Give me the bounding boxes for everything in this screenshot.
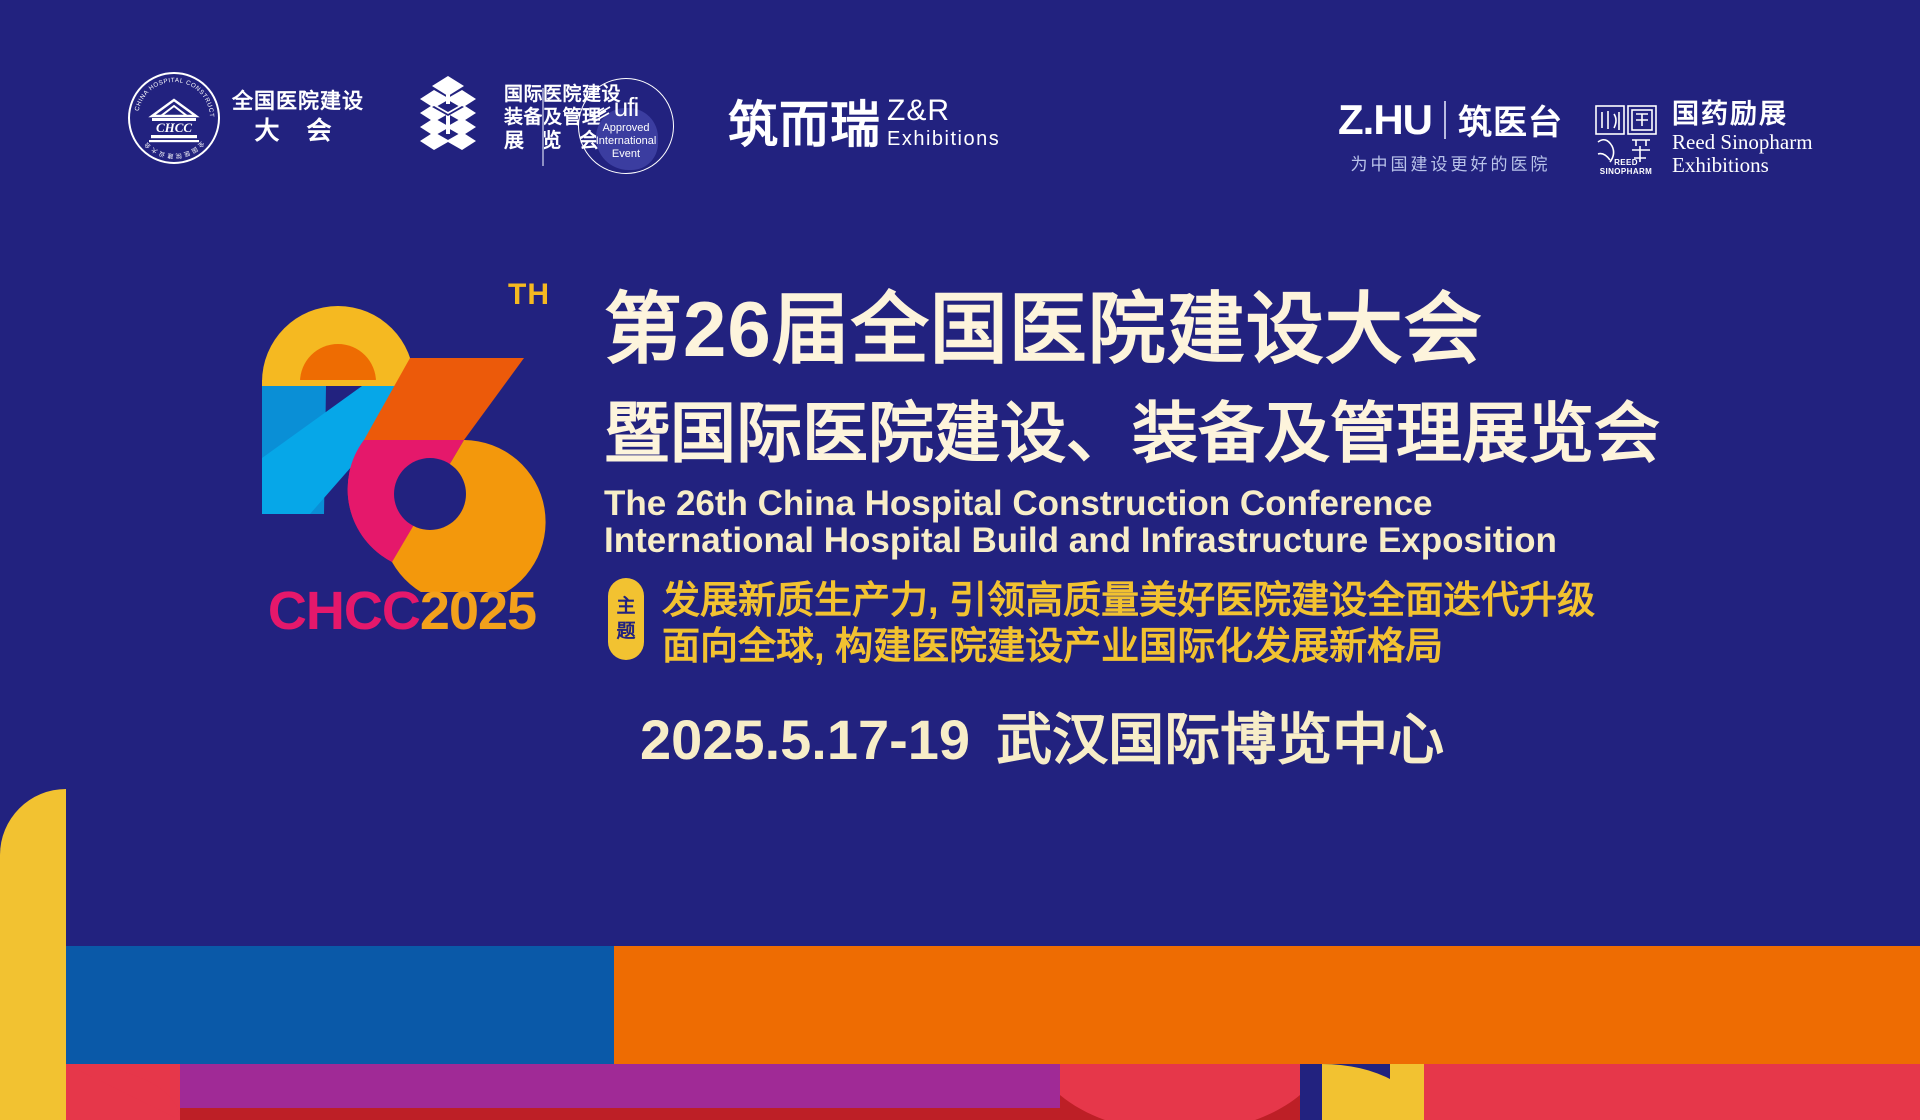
poster-canvas: CHINA HOSPITAL CONSTRUCTION CONFERENCE 全… <box>0 0 1920 1120</box>
title-en-primary: The 26th China Hospital Construction Con… <box>604 485 1432 522</box>
theme-badge-char1: 主 <box>616 597 635 616</box>
header-logo-bar: CHINA HOSPITAL CONSTRUCTION CONFERENCE 全… <box>0 0 1920 200</box>
title-cn-secondary: 暨国际医院建设、装备及管理展览会 <box>604 400 1660 466</box>
zr-cn: 筑而瑞 <box>728 99 881 151</box>
date-venue-bar: 2025.5.17-19武汉国际博览中心 <box>640 712 1444 768</box>
red-u-shape <box>1060 1064 1300 1120</box>
ufi-word: ufi <box>578 92 674 123</box>
reed-sinopharm-seal-icon: REED SINOPHARM <box>1592 102 1660 174</box>
reed-mark-caption: REED SINOPHARM <box>1592 158 1660 176</box>
zhuyitai-logo: Z.HU 筑医台 为中国建设更好的医院 <box>1338 95 1563 175</box>
zhu-cn: 筑医台 <box>1458 95 1563 144</box>
logo-wordmark: CHCC2025 <box>252 580 552 642</box>
svg-text:CHCC: CHCC <box>156 120 192 135</box>
chcc-26-numeral-icon <box>252 262 552 592</box>
chcc-seal-icon: CHINA HOSPITAL CONSTRUCTION CONFERENCE 全… <box>128 72 220 164</box>
theme-line-1: 发展新质生产力, 引领高质量美好医院建设全面迭代升级 <box>662 578 1595 624</box>
hexagon-building-icon <box>404 72 492 164</box>
red-right-block <box>1422 1064 1920 1120</box>
logo-superscript-th: TH <box>508 278 550 312</box>
logo-word-chcc: CHCC <box>268 581 420 641</box>
header-divider <box>542 88 544 166</box>
ufi-line2: International <box>578 135 674 148</box>
chcc-label-line2: 大 会 <box>232 117 364 146</box>
blue-band <box>66 946 614 1064</box>
date-year: 2025. <box>640 708 780 771</box>
chcc-label: 全国医院建设 大 会 <box>232 90 364 146</box>
reed-cn: 国药励展 <box>1672 100 1813 128</box>
zhu-mark: Z.HU <box>1338 96 1432 144</box>
theme-line-2: 面向全球, 构建医院建设产业国际化发展新格局 <box>662 624 1595 670</box>
theme-badge: 主 题 <box>608 578 644 660</box>
ufi-line1: Approved <box>578 122 674 135</box>
zr-en2: Exhibitions <box>887 129 1000 149</box>
zhu-divider <box>1444 101 1446 139</box>
gold-column <box>0 789 66 1120</box>
date-days: 5.17-19 <box>780 708 970 771</box>
reed-en2: Exhibitions <box>1672 154 1813 176</box>
venue-name: 武汉国际博览中心 <box>996 708 1444 771</box>
ufi-line3: Event <box>578 148 674 161</box>
orange-band <box>614 946 1920 1064</box>
title-cn-primary: 第26届全国医院建设大会 <box>604 290 1483 368</box>
reed-sinopharm-logo: REED SINOPHARM 国药励展 Reed Sinopharm Exhib… <box>1592 100 1813 176</box>
zr-exhibitions-logo: 筑而瑞 Z&R Exhibitions <box>728 96 1000 151</box>
header-left-group: CHINA HOSPITAL CONSTRUCTION CONFERENCE 全… <box>128 72 621 164</box>
reed-en1: Reed Sinopharm <box>1672 131 1813 153</box>
theme-badge-char2: 题 <box>616 622 635 641</box>
zr-en1: Z&R <box>887 96 1000 126</box>
svg-text:CHINA HOSPITAL CONSTRUCTION CO: CHINA HOSPITAL CONSTRUCTION CONFERENCE <box>128 72 215 118</box>
logo-word-year: 2025 <box>420 581 536 641</box>
theme-lines: 发展新质生产力, 引领高质量美好医院建设全面迭代升级 面向全球, 构建医院建设产… <box>662 578 1595 670</box>
ufi-approved-icon: ufi Approved International Event <box>578 78 674 174</box>
title-en-secondary: International Hospital Build and Infrast… <box>604 522 1557 559</box>
chcc-label-line1: 全国医院建设 <box>232 90 364 114</box>
zhu-slogan: 为中国建设更好的医院 <box>1338 150 1563 175</box>
theme-block: 主 题 发展新质生产力, 引领高质量美好医院建设全面迭代升级 面向全球, 构建医… <box>608 578 1595 670</box>
